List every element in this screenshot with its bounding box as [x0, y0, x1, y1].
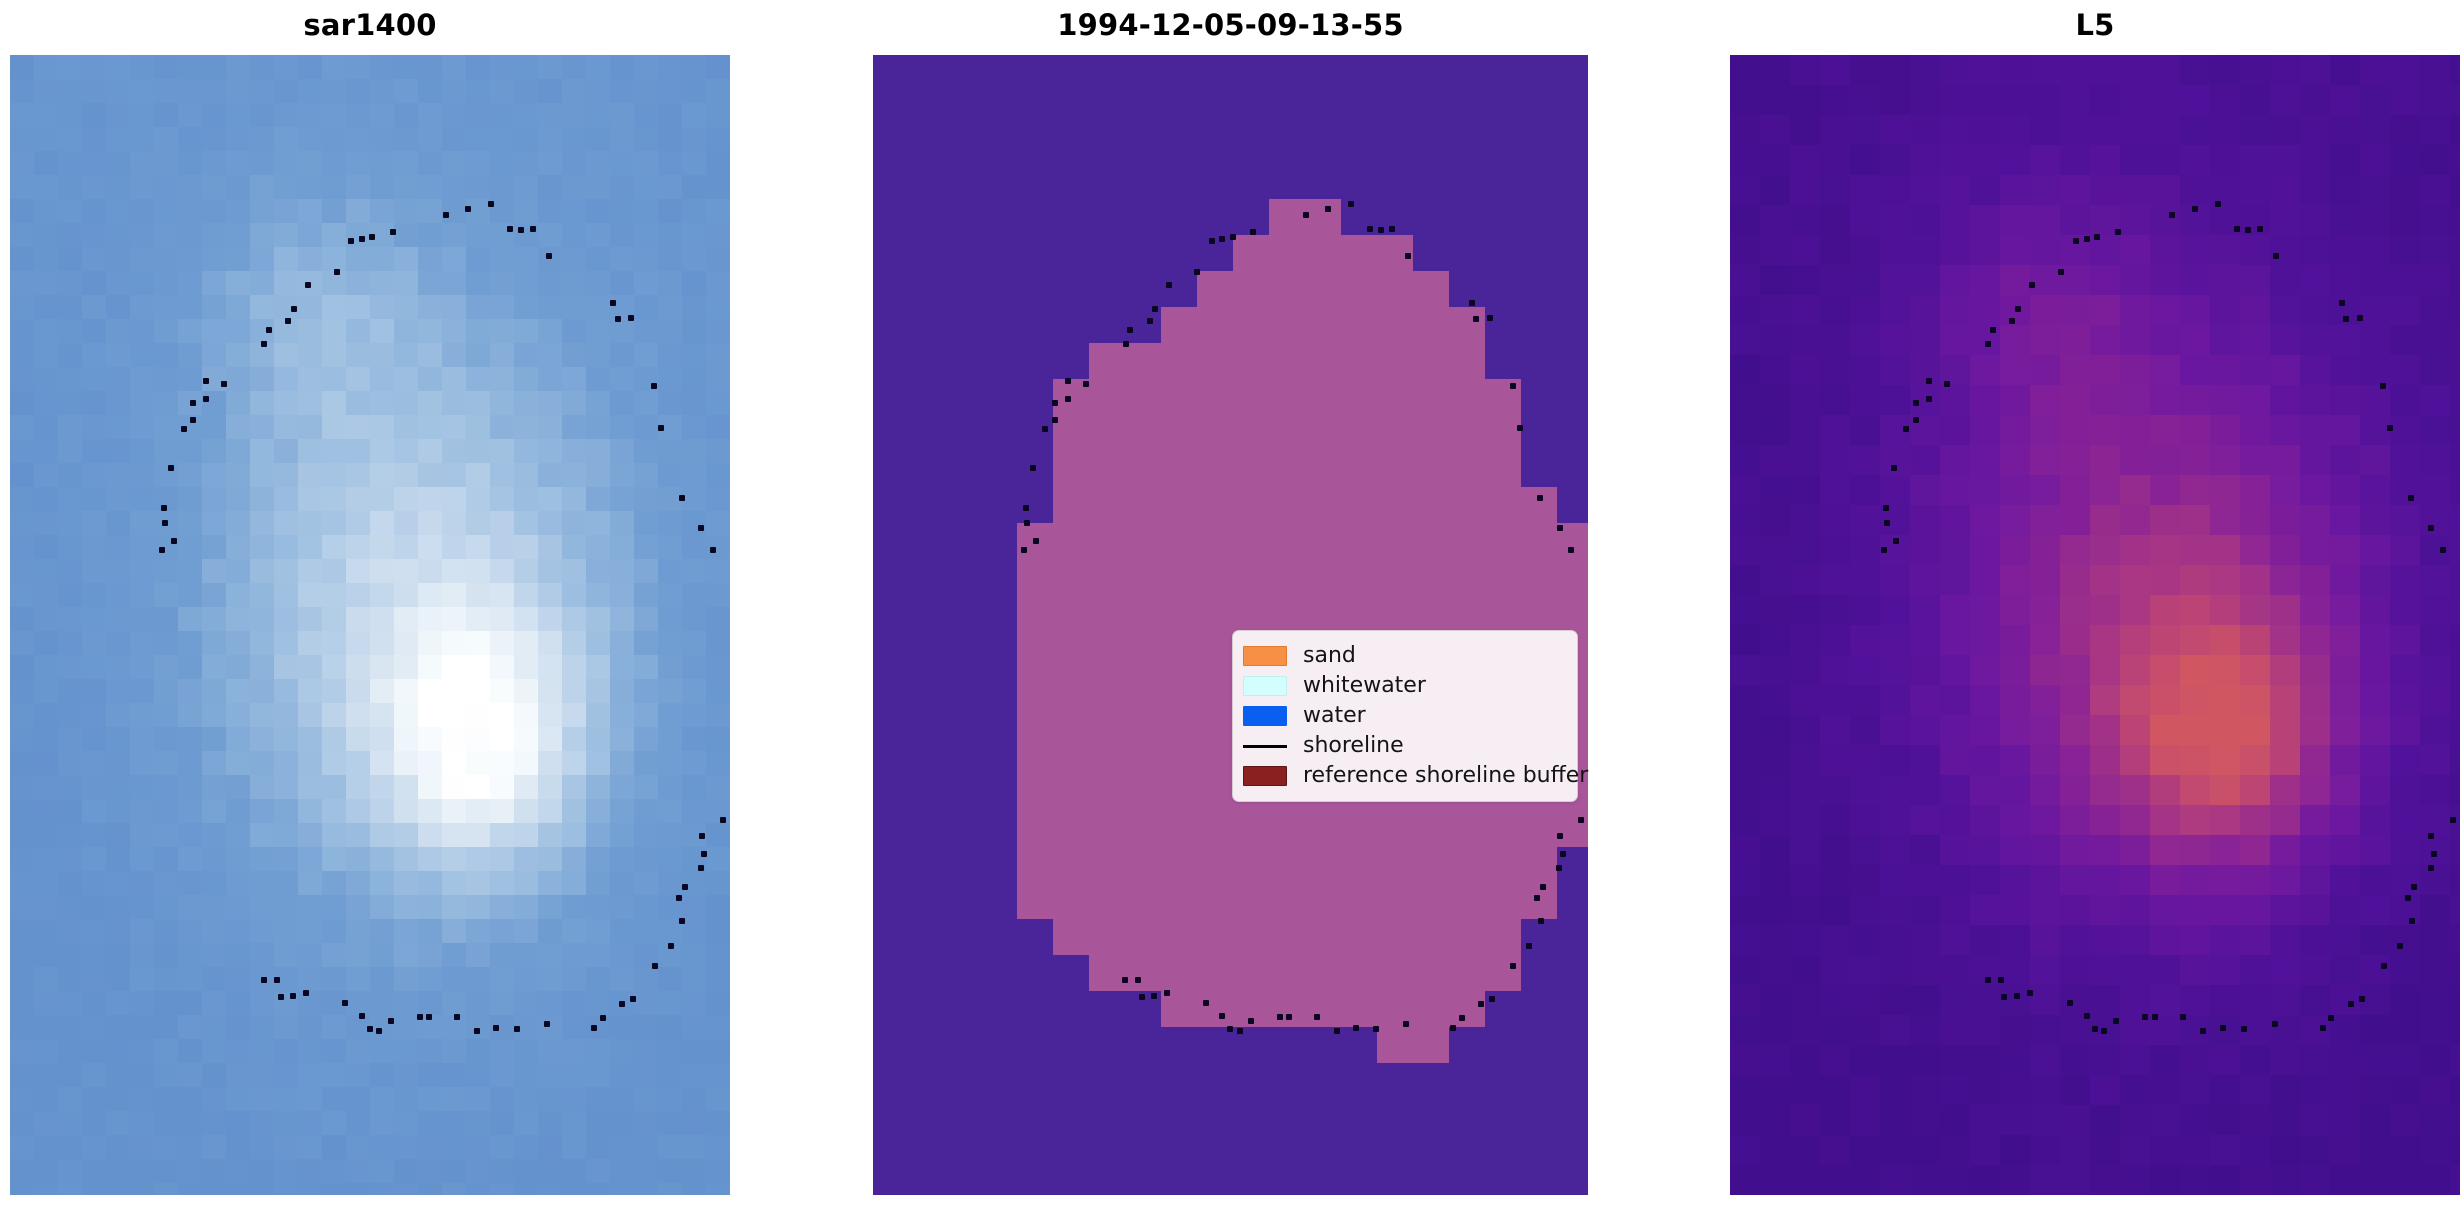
shoreline-point: [303, 990, 309, 996]
shoreline-point: [376, 1028, 382, 1034]
shoreline-point: [2405, 895, 2411, 901]
shoreline-point: [203, 396, 209, 402]
shoreline-point: [474, 1028, 480, 1034]
shoreline-point: [1123, 341, 1129, 347]
shoreline-point: [2428, 833, 2434, 839]
shoreline-point: [2381, 963, 2387, 969]
shoreline-point: [334, 269, 340, 275]
shoreline-point: [291, 306, 297, 312]
shoreline-point: [701, 851, 707, 857]
shoreline-point: [1166, 282, 1172, 288]
shoreline-point: [2257, 226, 2263, 232]
shoreline-point: [2234, 226, 2240, 232]
shoreline-point: [1052, 417, 1058, 423]
shoreline-point: [342, 1000, 348, 1006]
shoreline-point: [1998, 977, 2004, 983]
shoreline-point: [1881, 547, 1887, 553]
shoreline-point: [278, 994, 284, 1000]
shoreline-point: [1139, 994, 1145, 1000]
shoreline-point: [2215, 201, 2221, 207]
legend-label: whitewater: [1303, 675, 1426, 697]
shoreline-point: [1510, 963, 1516, 969]
shoreline-point: [2428, 525, 2434, 531]
shoreline-point: [2357, 315, 2363, 321]
shoreline-point: [161, 505, 167, 511]
shoreline-point: [367, 1026, 373, 1032]
shoreline-point: [1021, 547, 1027, 553]
shoreline-point: [1209, 238, 1215, 244]
shoreline-point: [2428, 865, 2434, 871]
legend-label: reference shoreline buffer: [1303, 765, 1588, 787]
shoreline-point: [2328, 1015, 2334, 1021]
shoreline-point: [1926, 396, 1932, 402]
legend-item: reference shoreline buffer: [1243, 761, 1565, 791]
shoreline-point: [1030, 465, 1036, 471]
shoreline-point: [454, 1014, 460, 1020]
sar-image: [10, 55, 730, 1195]
shoreline-point: [159, 547, 165, 553]
shoreline-point: [668, 943, 674, 949]
shoreline-point: [2009, 318, 2015, 324]
shoreline-point: [2142, 1014, 2148, 1020]
shoreline-point: [2067, 1000, 2073, 1006]
shoreline-point: [679, 918, 685, 924]
legend-label: shoreline: [1303, 735, 1404, 757]
shoreline-point: [465, 206, 471, 212]
shoreline-point: [290, 993, 296, 999]
shoreline-point: [1556, 865, 1562, 871]
shoreline-point: [2027, 990, 2033, 996]
shoreline-point: [2084, 236, 2090, 242]
shoreline-point: [1985, 341, 1991, 347]
shoreline-point: [2152, 1014, 2158, 1020]
shoreline-point: [1303, 212, 1309, 218]
shoreline-point: [1325, 206, 1331, 212]
shoreline-point: [1517, 425, 1523, 431]
shoreline-point: [2101, 1028, 2107, 1034]
shoreline-point: [1135, 977, 1141, 983]
shoreline-point: [2084, 1013, 2090, 1019]
shoreline-point: [1065, 396, 1071, 402]
shoreline-point: [1367, 226, 1373, 232]
shoreline-point: [2180, 1014, 2186, 1020]
shoreline-point: [1557, 525, 1563, 531]
shoreline-point: [417, 1014, 423, 1020]
shoreline-point: [2014, 993, 2020, 999]
shoreline-point: [676, 895, 682, 901]
shoreline-point: [1286, 1014, 1292, 1020]
shoreline-point: [2115, 229, 2121, 235]
shoreline-point: [1389, 226, 1395, 232]
shoreline-point: [1334, 1028, 1340, 1034]
legend-label: water: [1303, 705, 1366, 727]
shoreline-point: [190, 400, 196, 406]
shoreline-point: [652, 963, 658, 969]
legend-swatch-reference-shoreline-buffer: [1243, 766, 1287, 786]
shoreline-point: [2220, 1025, 2226, 1031]
shoreline-point: [1473, 316, 1479, 322]
shoreline-point: [1560, 851, 1566, 857]
shoreline-point: [2320, 1025, 2326, 1031]
shoreline-point: [1913, 400, 1919, 406]
shoreline-point: [1487, 315, 1493, 321]
shoreline-point: [1557, 833, 1563, 839]
shoreline-point: [2450, 817, 2456, 823]
legend-swatch-sand: [1243, 646, 1287, 666]
shoreline-point: [1450, 1025, 1456, 1031]
shoreline-point: [1122, 977, 1128, 983]
shoreline-point: [2192, 206, 2198, 212]
shoreline-point: [359, 1013, 365, 1019]
shoreline-point: [1537, 495, 1543, 501]
shoreline-point: [2343, 316, 2349, 322]
panel-title-classified: 1994-12-05-09-13-55: [873, 8, 1588, 42]
legend-item: sand: [1243, 641, 1565, 671]
shoreline-point: [1024, 520, 1030, 526]
shoreline-point: [2245, 227, 2251, 233]
shoreline-point: [2169, 212, 2175, 218]
shoreline-point: [1913, 417, 1919, 423]
shoreline-point: [1884, 520, 1890, 526]
shoreline-point: [359, 236, 365, 242]
shoreline-point: [1526, 943, 1532, 949]
shoreline-point: [285, 318, 291, 324]
sar-pixel-canvas: [10, 55, 730, 1195]
shoreline-point: [651, 383, 657, 389]
shoreline-point: [488, 201, 494, 207]
shoreline-point: [1538, 918, 1544, 924]
shoreline-point: [2408, 495, 2414, 501]
shoreline-point: [619, 1001, 625, 1007]
shoreline-point: [2058, 269, 2064, 275]
shoreline-point: [2273, 253, 2279, 259]
shoreline-point: [203, 378, 209, 384]
l5-pixel-canvas: [1730, 55, 2460, 1195]
shoreline-point: [261, 977, 267, 983]
shoreline-point: [1985, 977, 1991, 983]
shoreline-point: [600, 1015, 606, 1021]
shoreline-point: [1219, 1013, 1225, 1019]
shoreline-point: [507, 226, 513, 232]
panel-classified: 1994-12-05-09-13-55: [0, 0, 2460, 1212]
shoreline-point: [698, 525, 704, 531]
legend-swatch-whitewater: [1243, 676, 1287, 696]
shoreline-point: [699, 833, 705, 839]
shoreline-point: [390, 229, 396, 235]
shoreline-point: [1147, 318, 1153, 324]
shoreline-point: [168, 465, 174, 471]
shoreline-point: [1478, 1001, 1484, 1007]
shoreline-point: [546, 253, 552, 259]
shoreline-point: [2029, 282, 2035, 288]
legend-label: sand: [1303, 645, 1356, 667]
shoreline-point: [1023, 505, 1029, 511]
panel-l5: L5: [0, 0, 2460, 1212]
shoreline-point: [1926, 378, 1932, 384]
shoreline-point: [2339, 300, 2345, 306]
shoreline-point: [162, 520, 168, 526]
l5-image: [1730, 55, 2460, 1195]
panel-sar: sar1400: [0, 0, 2460, 1212]
shoreline-point: [2001, 994, 2007, 1000]
legend: sandwhitewaterwatershorelinereference sh…: [1232, 630, 1578, 802]
shoreline-point: [2380, 383, 2386, 389]
shoreline-point: [1459, 1015, 1465, 1021]
shoreline-point: [1194, 269, 1200, 275]
shoreline-point: [1891, 465, 1897, 471]
legend-item: water: [1243, 701, 1565, 731]
shoreline-point: [1314, 1014, 1320, 1020]
shoreline-point: [544, 1021, 550, 1027]
shoreline-point: [1219, 236, 1225, 242]
shoreline-point: [1052, 400, 1058, 406]
shoreline-point: [1248, 1018, 1254, 1024]
shoreline-point: [181, 426, 187, 432]
shoreline-point: [2200, 1028, 2206, 1034]
shoreline-point: [1127, 327, 1133, 333]
shoreline-point: [1033, 538, 1039, 544]
shoreline-point: [710, 547, 716, 553]
figure-root: sar1400 1994-12-05-09-13-55 L5 sandwhite…: [0, 0, 2460, 1212]
shoreline-point: [1489, 996, 1495, 1002]
shoreline-point: [679, 495, 685, 501]
shoreline-point: [615, 316, 621, 322]
shoreline-point: [1203, 1000, 1209, 1006]
shoreline-point: [1373, 1026, 1379, 1032]
shoreline-point: [2359, 996, 2365, 1002]
shoreline-point: [443, 212, 449, 218]
shoreline-point: [1230, 234, 1236, 240]
shoreline-point: [2411, 884, 2417, 890]
shoreline-point: [530, 226, 536, 232]
legend-swatch-shoreline: [1243, 736, 1287, 756]
shoreline-point: [518, 227, 524, 233]
shoreline-point: [1164, 990, 1170, 996]
shoreline-point: [682, 884, 688, 890]
shoreline-point: [2241, 1026, 2247, 1032]
shoreline-point: [1568, 547, 1574, 553]
shoreline-point: [1353, 1025, 1359, 1031]
shoreline-point: [1227, 1026, 1233, 1032]
shoreline-point: [2409, 918, 2415, 924]
shoreline-point: [1250, 229, 1256, 235]
shoreline-point: [1065, 378, 1071, 384]
shoreline-point: [1042, 426, 1048, 432]
shoreline-point: [2092, 1026, 2098, 1032]
shoreline-point: [274, 977, 280, 983]
shoreline-point: [171, 538, 177, 544]
shoreline-point: [610, 300, 616, 306]
shoreline-point: [305, 282, 311, 288]
shoreline-point: [1510, 383, 1516, 389]
shoreline-point: [720, 817, 726, 823]
shoreline-point: [2113, 1018, 2119, 1024]
shoreline-point: [628, 315, 634, 321]
shoreline-point: [1083, 381, 1089, 387]
shoreline-point: [369, 234, 375, 240]
shoreline-point: [1405, 253, 1411, 259]
shoreline-point: [514, 1026, 520, 1032]
shoreline-point: [1403, 1021, 1409, 1027]
shoreline-point: [493, 1025, 499, 1031]
shoreline-point: [266, 327, 272, 333]
shoreline-point: [658, 425, 664, 431]
classified-pixel-canvas: [873, 55, 1588, 1195]
shoreline-point: [2094, 234, 2100, 240]
shoreline-point: [1152, 306, 1158, 312]
shoreline-point: [2272, 1021, 2278, 1027]
classified-image: [873, 55, 1588, 1195]
shoreline-point: [630, 996, 636, 1002]
shoreline-point: [2440, 547, 2446, 553]
shoreline-point: [388, 1018, 394, 1024]
shoreline-point: [1578, 817, 1584, 823]
shoreline-point: [190, 417, 196, 423]
panel-title-l5: L5: [1730, 8, 2460, 42]
legend-item: shoreline: [1243, 731, 1565, 761]
legend-swatch-water: [1243, 706, 1287, 726]
panel-title-sar: sar1400: [10, 8, 730, 42]
shoreline-point: [1883, 505, 1889, 511]
shoreline-point: [1348, 201, 1354, 207]
shoreline-point: [2387, 425, 2393, 431]
shoreline-point: [1277, 1014, 1283, 1020]
shoreline-point: [1990, 327, 1996, 333]
shoreline-point: [1237, 1028, 1243, 1034]
shoreline-point: [1903, 426, 1909, 432]
shoreline-point: [426, 1014, 432, 1020]
legend-item: whitewater: [1243, 671, 1565, 701]
shoreline-point: [1944, 381, 1950, 387]
shoreline-point: [698, 865, 704, 871]
shoreline-point: [221, 381, 227, 387]
shoreline-point: [1534, 895, 1540, 901]
shoreline-point: [1378, 227, 1384, 233]
shoreline-point: [1893, 538, 1899, 544]
shoreline-point: [2397, 943, 2403, 949]
shoreline-point: [2015, 306, 2021, 312]
shoreline-point: [1151, 993, 1157, 999]
shoreline-point: [591, 1025, 597, 1031]
shoreline-point: [1540, 884, 1546, 890]
shoreline-point: [2431, 851, 2437, 857]
shoreline-point: [261, 341, 267, 347]
shoreline-point: [1469, 300, 1475, 306]
shoreline-point: [2073, 238, 2079, 244]
shoreline-point: [348, 238, 354, 244]
shoreline-point: [2348, 1001, 2354, 1007]
